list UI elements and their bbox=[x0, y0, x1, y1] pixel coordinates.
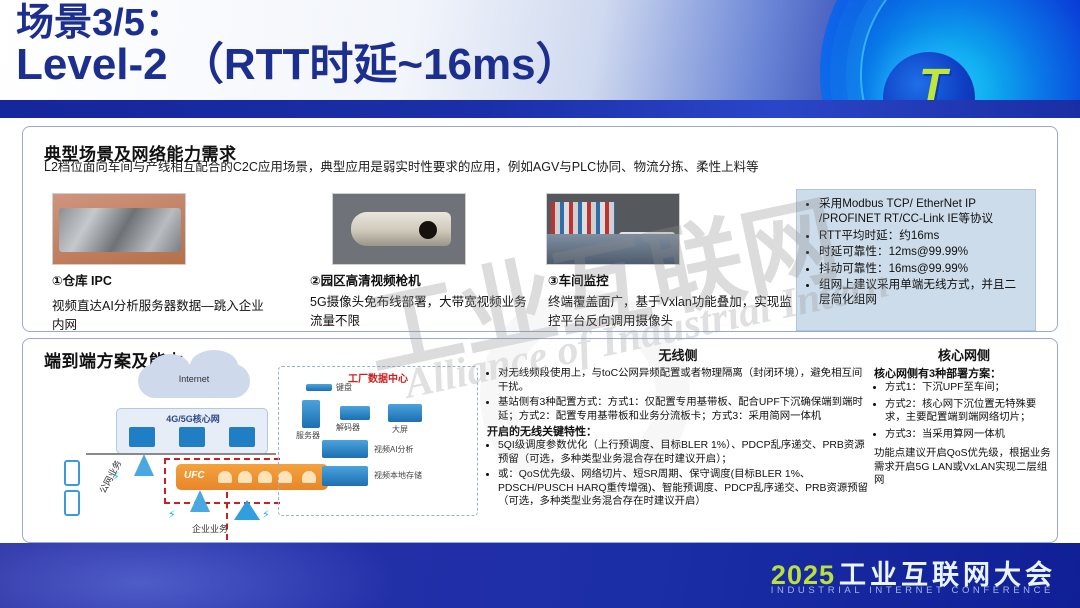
ufc-port-icon bbox=[258, 471, 272, 483]
slide-footer: 2025工业互联网大会 INDUSTRIAL INTERNET CONFEREN… bbox=[0, 543, 1080, 608]
flow-dash-line bbox=[164, 502, 280, 504]
wireless-bolt-icon: ⚡ bbox=[262, 508, 270, 521]
big-screen-label: 大屏 bbox=[392, 424, 408, 435]
video-ai-analysis-label: 视频AI分析 bbox=[374, 444, 414, 455]
decoder-label: 解码器 bbox=[336, 422, 360, 433]
bullet-item: 时延可靠性：12ms@99.99% bbox=[819, 244, 1027, 259]
wireless-bolt-icon: ⚡ bbox=[112, 470, 120, 483]
rack-shelf-graphic bbox=[551, 202, 615, 238]
section-top-subtitle-wrap: L2档位面向车间与产线相互配合的C2C应用场景，典型应用是弱实时性要求的应用，例… bbox=[44, 160, 1034, 176]
server-icon bbox=[302, 400, 320, 428]
big-screen-icon bbox=[388, 404, 422, 422]
camera-lens-icon bbox=[419, 221, 437, 239]
internet-cloud-label: Internet bbox=[138, 374, 250, 384]
caption-card-2-title: ②园区高清视频枪机 bbox=[310, 270, 535, 289]
wireless-feature-bullet: 或：QoS优先级、网络切片、短SR周期、保守调度(目标BLER 1%、PDSCH… bbox=[498, 468, 869, 509]
core-network-box: 4G/5G核心网 bbox=[116, 408, 268, 454]
coverage-cone-icon bbox=[234, 500, 260, 520]
video-ai-analysis-icon bbox=[322, 440, 368, 458]
page-title-line1: 场景3/5： bbox=[16, 4, 580, 43]
core-bullet: 方式2：核心网下沉位置无特殊要求，主要配置端到端网络切片； bbox=[885, 398, 1054, 425]
wireless-bolt-icon: ⚡ bbox=[168, 508, 176, 521]
wireless-bullet: 基站侧有3种配置方式：方式1：仅配置专用基带板、配合UPF下沉确保端到端时延；方… bbox=[498, 396, 869, 423]
keyboard-label: 键盘 bbox=[336, 382, 352, 393]
caption-card-2: ②园区高清视频枪机 5G摄像头免布线部署，大带宽视频业务流量不限 bbox=[310, 270, 535, 331]
section-top-subtitle: L2档位面向车间与产线相互配合的C2C应用场景，典型应用是弱实时性要求的应用，例… bbox=[44, 160, 1034, 176]
wireless-feature-bullet: 5QI级调度参数优化（上行预调度、目标BLER 1%）、PDCP乱序递交、PRB… bbox=[498, 439, 869, 466]
video-local-storage-label: 视频本地存储 bbox=[374, 470, 422, 481]
core-node-icon bbox=[129, 427, 155, 447]
header-accent-bar bbox=[0, 100, 1080, 118]
mobile-phone-icon bbox=[64, 460, 80, 486]
network-topology-diagram: Internet 4G/5G核心网 UFC 工厂数据中心 键盘 服务器 解码器 … bbox=[30, 360, 482, 538]
core-bullet: 方式1：下沉UPF至车间； bbox=[885, 381, 1054, 395]
wireless-bullet-list: 对无线频段使用上，与toC公网异频配置或者物理隔离（封闭环境），避免相互间干扰。… bbox=[498, 367, 869, 423]
core-side-title: 核心网侧 bbox=[874, 345, 1054, 364]
core-subheading: 核心网侧有3种部署方案： bbox=[874, 367, 1054, 381]
server-label: 服务器 bbox=[296, 430, 320, 441]
internet-cloud-icon: Internet bbox=[138, 364, 250, 398]
bullet-item: RTT平均时延：约16ms bbox=[819, 228, 1027, 243]
decoder-icon bbox=[340, 406, 370, 420]
caption-card-1-text: 视频直达AI分析服务器数据—跳入企业内网 bbox=[52, 297, 267, 335]
conference-title-en: INDUSTRIAL INTERNET CONFERENCE bbox=[771, 585, 1054, 596]
core-bullet-list: 方式1：下沉UPF至车间； 方式2：核心网下沉位置无特殊要求，主要配置端到端网络… bbox=[885, 381, 1054, 441]
factory-data-center-label: 工厂数据中心 bbox=[278, 370, 478, 385]
caption-card-3: ③车间监控 终端覆盖面广，基于Vxlan功能叠加，实现监控平台反向调用摄像头 bbox=[548, 270, 798, 331]
core-network-side-column: 核心网侧 核心网侧有3种部署方案： 方式1：下沉UPF至车间； 方式2：核心网下… bbox=[874, 345, 1054, 488]
wireless-subheading: 开启的无线关键特性： bbox=[487, 425, 869, 439]
wireless-side-column: 无线侧 对无线频段使用上，与toC公网异频配置或者物理隔离（封闭环境），避免相互… bbox=[487, 345, 869, 511]
wireless-side-body: 对无线频段使用上，与toC公网异频配置或者物理隔离（封闭环境），避免相互间干扰。… bbox=[487, 367, 869, 509]
page-title: 场景3/5： Level-2 （RTT时延~16ms） bbox=[16, 4, 580, 88]
caption-card-1-title: ①仓库 IPC bbox=[52, 270, 267, 289]
hd-camera-photo bbox=[332, 193, 466, 265]
flow-dash-line bbox=[164, 458, 166, 504]
caption-card-3-text: 终端覆盖面广，基于Vxlan功能叠加，实现监控平台反向调用摄像头 bbox=[548, 293, 798, 331]
core-network-label: 4G/5G核心网 bbox=[117, 412, 269, 425]
wireless-feature-list: 5QI级调度参数优化（上行预调度、目标BLER 1%）、PDCP乱序递交、PRB… bbox=[498, 439, 869, 509]
mobile-phone-icon bbox=[64, 490, 80, 516]
base-station-icon bbox=[190, 490, 210, 512]
bullet-item: 组网上建议采用单端无线方式，并且二层简化组网 bbox=[819, 277, 1027, 308]
ufc-port-icon bbox=[238, 471, 252, 483]
wireless-bullet: 对无线频段使用上，与toC公网异频配置或者物理隔离（封闭环境），避免相互间干扰。 bbox=[498, 367, 869, 394]
network-capability-bullets-box: 采用Modbus TCP/ EtherNet IP /PROFINET RT/C… bbox=[796, 189, 1036, 331]
core-note: 功能点建议开启QoS优先级，根据业务需求开启5G LAN或VxLAN实现二层组网 bbox=[874, 447, 1054, 488]
keyboard-icon bbox=[306, 384, 332, 391]
bullet-item: 采用Modbus TCP/ EtherNet IP /PROFINET RT/C… bbox=[819, 196, 1027, 227]
core-side-body: 核心网侧有3种部署方案： 方式1：下沉UPF至车间； 方式2：核心网下沉位置无特… bbox=[874, 367, 1054, 488]
workshop-monitoring-photo bbox=[546, 193, 680, 265]
public-service-label: 公网业务 bbox=[96, 458, 124, 496]
warehouse-ipc-photo bbox=[52, 193, 186, 265]
ufc-label: UFC bbox=[184, 470, 205, 481]
bullet-item: 抖动可靠性：16ms@99.99% bbox=[819, 261, 1027, 276]
caption-card-1: ①仓库 IPC 视频直达AI分析服务器数据—跳入企业内网 bbox=[52, 270, 267, 335]
core-bullet: 方式3：当采用算网一体机 bbox=[885, 428, 1054, 442]
wireless-side-title: 无线侧 bbox=[487, 345, 869, 364]
network-capability-bullet-list: 采用Modbus TCP/ EtherNet IP /PROFINET RT/C… bbox=[811, 196, 1035, 308]
backbone-line bbox=[86, 453, 276, 455]
caption-card-3-title: ③车间监控 bbox=[548, 270, 798, 289]
caption-card-2-text: 5G摄像头免布线部署，大带宽视频业务流量不限 bbox=[310, 293, 535, 331]
video-local-storage-icon bbox=[322, 466, 368, 486]
agv-vehicle-graphic bbox=[619, 232, 675, 254]
enterprise-service-label: 企业业务 bbox=[192, 522, 228, 535]
flow-dash-line bbox=[164, 458, 280, 460]
core-node-icon bbox=[179, 427, 205, 447]
core-node-icon bbox=[229, 427, 255, 447]
base-station-icon bbox=[134, 454, 154, 476]
ufc-port-icon bbox=[218, 471, 232, 483]
slide-header: T 场景3/5： Level-2 （RTT时延~16ms） bbox=[0, 0, 1080, 118]
page-title-line2: Level-2 （RTT时延~16ms） bbox=[16, 43, 580, 88]
